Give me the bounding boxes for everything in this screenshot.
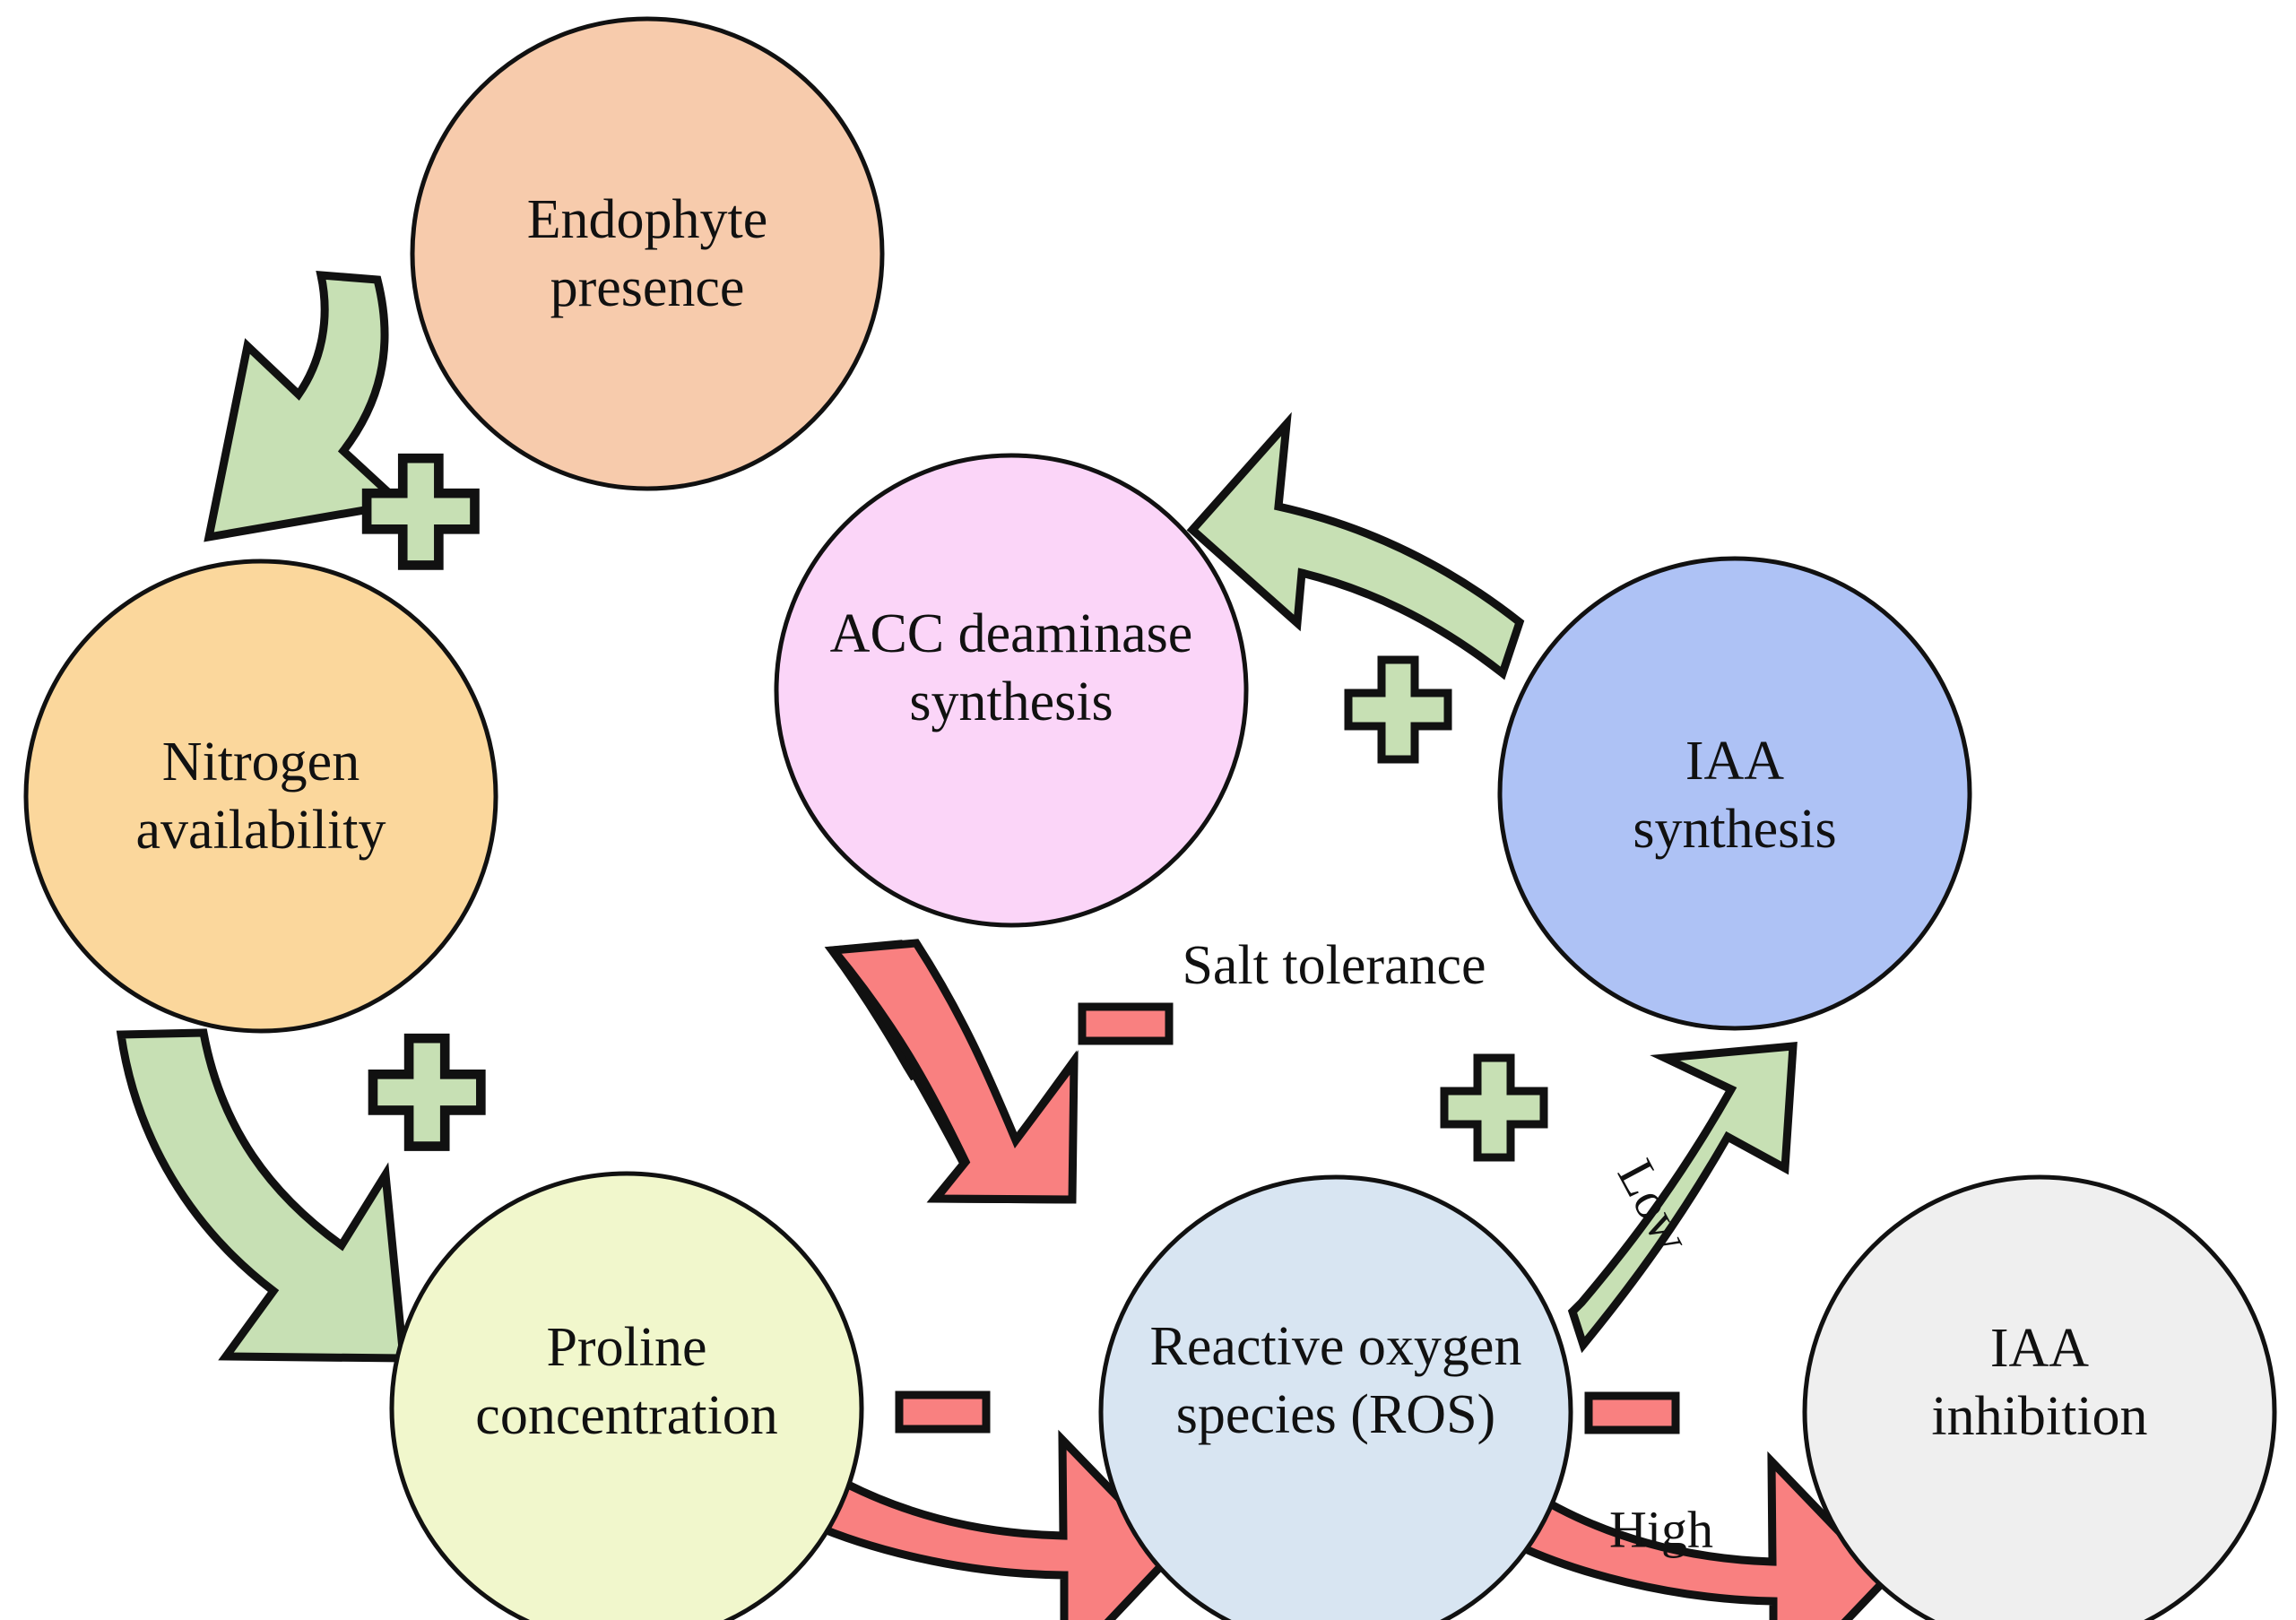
node-acc-deaminase-synthesis[interactable]: ACC deaminase synthesis xyxy=(776,455,1246,925)
node-nitrogen-availability[interactable]: Nitrogen availability xyxy=(26,561,496,1031)
minus-sign-ros-iaa-inhibition-icon xyxy=(1589,1396,1676,1430)
plus-sign-iaa-synthesis-acc-icon xyxy=(1348,660,1448,759)
node-label-iaa-inhibition-line2: inhibition xyxy=(1931,1386,2147,1447)
arrow-nitrogen-to-proline xyxy=(121,1033,403,1358)
node-label-endophyte-presence-line2: presence xyxy=(550,257,745,318)
node-label-nitrogen-availability-line1: Nitrogen xyxy=(162,732,360,793)
node-label-acc-deaminase-synthesis-line1: ACC deaminase xyxy=(830,603,1193,664)
flow-diagram: Endophyte presence Nitrogen availability… xyxy=(0,0,2296,1620)
node-endophyte-presence[interactable]: Endophyte presence xyxy=(412,19,882,489)
minus-sign-proline-ros-icon xyxy=(899,1395,986,1429)
arrow-label-high-group: High xyxy=(1609,1500,1713,1558)
node-iaa-inhibition[interactable]: IAA inhibition xyxy=(1805,1177,2274,1620)
node-label-endophyte-presence-line1: Endophyte xyxy=(527,189,768,250)
plus-sign-nitrogen-proline-icon xyxy=(373,1038,481,1146)
node-label-iaa-synthesis-line2: synthesis xyxy=(1633,799,1836,860)
node-label-iaa-inhibition-line1: IAA xyxy=(1990,1318,2089,1379)
arrow-label-high: High xyxy=(1609,1500,1713,1558)
node-label-reactive-oxygen-species-line1: Reactive oxygen xyxy=(1150,1316,1522,1377)
node-label-nitrogen-availability-line2: availability xyxy=(136,800,386,861)
node-iaa-synthesis[interactable]: IAA synthesis xyxy=(1500,559,1970,1028)
node-circle-nitrogen-availability[interactable] xyxy=(26,561,496,1031)
node-label-reactive-oxygen-species-line2: species (ROS) xyxy=(1176,1384,1495,1445)
arrow-acc-to-salt-tolerance-shape xyxy=(834,943,1074,1200)
node-proline-concentration[interactable]: Proline concentration xyxy=(392,1174,862,1620)
node-label-proline-concentration-line1: Proline xyxy=(546,1317,706,1378)
plus-sign-endophyte-nitrogen-icon xyxy=(367,458,474,565)
node-circle-iaa-synthesis[interactable] xyxy=(1500,559,1970,1028)
minus-sign-acc-salt-icon xyxy=(1082,1007,1169,1041)
node-label-proline-concentration-line2: concentration xyxy=(475,1385,777,1446)
node-reactive-oxygen-species[interactable]: Reactive oxygen species (ROS) xyxy=(1101,1177,1571,1620)
label-salt-tolerance: Salt tolerance xyxy=(1182,935,1486,996)
node-circle-endophyte-presence[interactable] xyxy=(412,19,882,489)
node-label-iaa-synthesis-line1: IAA xyxy=(1685,731,1784,792)
plus-sign-ros-iaa-synthesis-icon xyxy=(1444,1058,1544,1157)
node-label-acc-deaminase-synthesis-line2: synthesis xyxy=(909,671,1113,732)
diagram-canvas: Endophyte presence Nitrogen availability… xyxy=(0,0,2296,1620)
